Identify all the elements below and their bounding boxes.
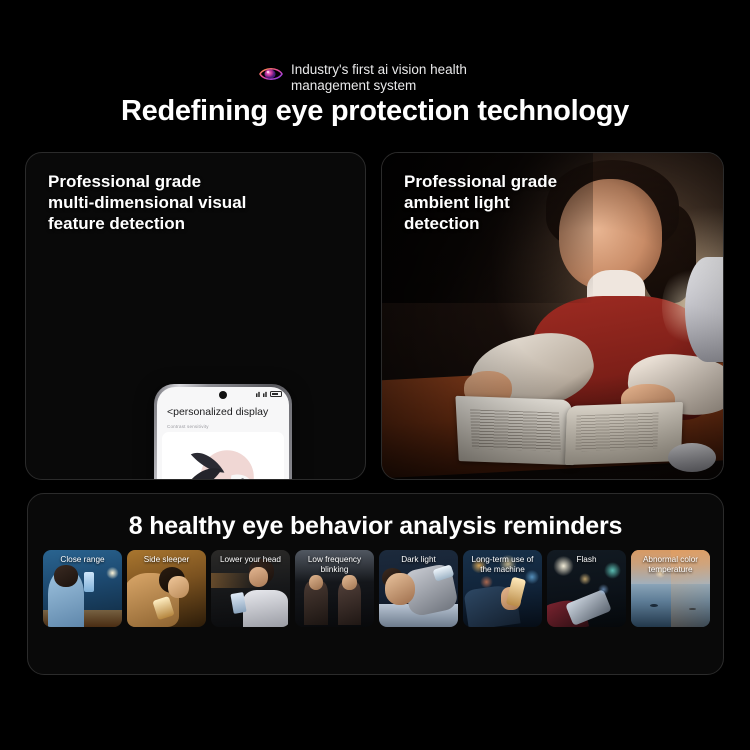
reminder-thumb-flash[interactable]: Flash — [547, 550, 626, 627]
reminder-thumb-lower-your-head[interactable]: Lower your head — [211, 550, 290, 627]
card-feature-detection[interactable]: Professional grade multi-dimensional vis… — [25, 152, 366, 480]
phone-status-bar — [157, 387, 289, 402]
contrast-result-panel: Highly sensitive you have extremely shar… — [162, 432, 284, 480]
camera-punch-hole-icon — [219, 391, 227, 399]
thumb-label: Flash — [547, 555, 626, 565]
reminder-thumb-abnormal-color-temperature[interactable]: Abnormal color temperature — [631, 550, 710, 627]
thumb-label: Side sleeper — [127, 555, 206, 565]
flying-bird-icon — [181, 441, 265, 480]
card-right-title: Professional grade ambient light detecti… — [404, 171, 557, 234]
eyebrow-text: Industry's first ai vision health manage… — [291, 62, 491, 94]
reminder-thumbnail-list: Close range Side sleeper Lower your head… — [43, 550, 708, 627]
phone-mockup: <personalized display Contrast sensitivi… — [154, 384, 292, 480]
thumb-label: Dark light — [379, 555, 458, 565]
card-ambient-light[interactable]: Professional grade ambient light detecti… — [381, 152, 724, 480]
reminder-thumb-low-frequency-blinking[interactable]: Low frequency blinking — [295, 550, 374, 627]
reminder-thumb-close-range[interactable]: Close range — [43, 550, 122, 627]
reminder-thumb-side-sleeper[interactable]: Side sleeper — [127, 550, 206, 627]
reminder-thumb-dark-light[interactable]: Dark light — [379, 550, 458, 627]
thumb-label: Lower your head — [211, 555, 290, 565]
thumb-label: Long-term use of the machine — [463, 555, 542, 575]
promo-page: Industry's first ai vision health manage… — [0, 0, 750, 750]
thumb-label: Low frequency blinking — [295, 555, 374, 575]
page-title: Redefining eye protection technology — [0, 95, 750, 128]
signal-icon — [256, 391, 261, 397]
eye-icon — [259, 65, 283, 83]
battery-icon — [270, 391, 282, 397]
eyebrow-row: Industry's first ai vision health manage… — [0, 62, 750, 94]
wifi-icon — [263, 391, 268, 397]
phone-screen: <personalized display Contrast sensitivi… — [157, 387, 289, 480]
card-behavior-reminders[interactable]: 8 healthy eye behavior analysis reminder… — [27, 493, 724, 675]
phone-nav-title[interactable]: <personalized display — [157, 402, 289, 424]
reminder-thumb-long-term-use[interactable]: Long-term use of the machine — [463, 550, 542, 627]
card-left-title: Professional grade multi-dimensional vis… — [48, 171, 246, 234]
bird-illustration-wrap — [169, 438, 277, 480]
reminders-title: 8 healthy eye behavior analysis reminder… — [28, 512, 723, 541]
thumb-label: Close range — [43, 555, 122, 565]
thumb-label: Abnormal color temperature — [631, 555, 710, 575]
status-icons — [256, 391, 282, 397]
phone-section-label-top: Contrast sensitivity — [157, 424, 289, 429]
